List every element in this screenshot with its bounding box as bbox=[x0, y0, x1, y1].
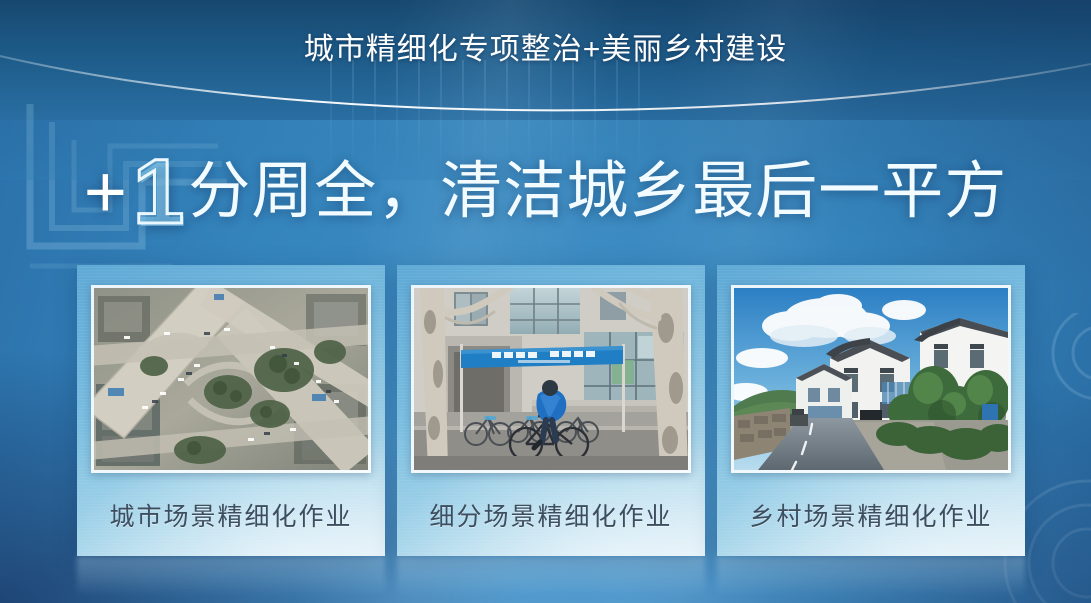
card-reflections bbox=[77, 556, 1025, 603]
card-reflection bbox=[77, 556, 385, 603]
card-urban-scene[interactable]: 城市场景精细化作业 bbox=[77, 265, 385, 556]
aerial-highway-interchange-photo bbox=[91, 285, 371, 473]
card-caption: 乡村场景精细化作业 bbox=[749, 497, 992, 533]
headline-plus-symbol: + bbox=[84, 155, 127, 229]
card-rural-scene[interactable]: 乡村场景精细化作业 bbox=[717, 265, 1025, 556]
card-subdivided-scene[interactable]: 细分场景精细化作业 bbox=[397, 265, 705, 556]
card-caption: 城市场景精细化作业 bbox=[109, 497, 352, 533]
card-caption: 细分场景精细化作业 bbox=[429, 497, 672, 533]
card-row: 城市场景精细化作业 bbox=[77, 265, 1025, 556]
headline-text: 分周全，清洁城乡最后一平方 bbox=[188, 161, 1007, 223]
headline-number-one: 1 bbox=[133, 146, 184, 238]
village-white-houses-photo bbox=[731, 285, 1011, 473]
slide-root: 城市精细化专项整治+美丽乡村建设 + 1 分周全，清洁城乡最后一平方 bbox=[0, 0, 1091, 603]
card-reflection bbox=[397, 556, 705, 603]
page-title: 城市精细化专项整治+美丽乡村建设 bbox=[0, 24, 1091, 68]
street-cyclist-banner-photo bbox=[411, 285, 691, 473]
headline: + 1 分周全，清洁城乡最后一平方 bbox=[0, 146, 1091, 238]
card-reflection bbox=[717, 556, 1025, 603]
